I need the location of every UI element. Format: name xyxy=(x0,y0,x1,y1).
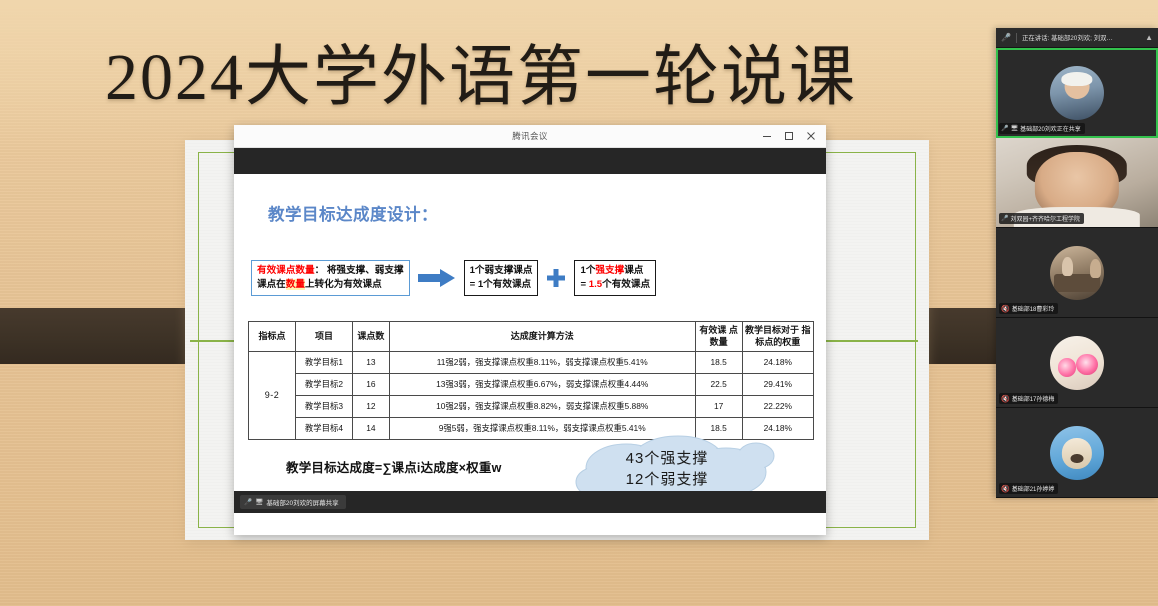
minimize-icon[interactable] xyxy=(756,126,778,147)
microphone-icon: 🎤 xyxy=(1001,33,1011,42)
cell-method: 11强2弱，强支撑课点权重8.11%，弱支撑课点权重5.41% xyxy=(389,352,695,374)
cell-index-point: 9-2 xyxy=(249,352,296,440)
participant-name-badge: 🔇基础部21孙婷婷 xyxy=(999,483,1058,494)
microphone-icon: 🎤 xyxy=(1001,125,1008,132)
definition-box: 有效课点数量： 将强支撑、弱支撑 课点在数量上转化为有效课点 xyxy=(251,260,410,296)
th-points: 课点数 xyxy=(353,322,390,352)
window-controls xyxy=(756,126,826,147)
weak-support-box: 1个弱支撑课点 = 1个有效课点 xyxy=(464,260,539,296)
microphone-icon: 🎤 xyxy=(1001,215,1008,222)
cloud-line-1: 43个强支撑 xyxy=(570,448,764,469)
decorative-ribbon-left xyxy=(0,308,214,364)
avatar xyxy=(1050,336,1104,390)
avatar xyxy=(1050,426,1104,480)
definition-line2-highlight: 数量 xyxy=(286,279,305,290)
video-tile[interactable]: 🎤刘双园+齐齐哈尔工程学院 xyxy=(996,138,1158,228)
definition-line1: 将强支撑、弱支撑 xyxy=(327,265,404,276)
cell-item: 教学目标1 xyxy=(295,352,352,374)
right-arrow-icon xyxy=(418,267,456,289)
cell-item: 教学目标4 xyxy=(295,418,352,440)
cell-effective-points: 22.5 xyxy=(695,374,742,396)
video-tile[interactable]: 🎤🖥基础部20刘欢正在共享 xyxy=(996,48,1158,138)
screen-share-icon: 🖥 xyxy=(1010,125,1018,132)
cell-weight: 24.18% xyxy=(742,352,813,374)
share-status-bar: 🎤 🖥 基础部20刘欢的屏幕共享 xyxy=(234,491,826,513)
share-status-pill: 🎤 🖥 基础部20刘欢的屏幕共享 xyxy=(240,495,346,509)
th-effective-points: 有效课 点数量 xyxy=(695,322,742,352)
conversion-diagram: 有效课点数量： 将强支撑、弱支撑 课点在数量上转化为有效课点 1个弱支撑课点 =… xyxy=(251,260,811,296)
speaking-status-text: 正在讲话: 基础部20刘欢; 刘双… xyxy=(1022,33,1140,42)
weak-line2: = 1个有效课点 xyxy=(470,278,533,292)
table-header-row: 指标点 项目 课点数 达成度计算方法 有效课 点数量 教学目标对于 指标点的权重 xyxy=(249,322,814,352)
cell-weight: 29.41% xyxy=(742,374,813,396)
definition-line2-pre: 课点在 xyxy=(257,279,286,290)
microphone-muted-icon: 🔇 xyxy=(1001,305,1010,313)
th-item: 项目 xyxy=(295,322,352,352)
strong-support-box: 1个强支撑课点 = 1.5个有效课点 xyxy=(574,260,656,296)
green-rule-left xyxy=(190,340,236,342)
maximize-icon[interactable] xyxy=(778,126,800,147)
meeting-toolbar-strip xyxy=(234,148,826,174)
achievement-table: 指标点 项目 课点数 达成度计算方法 有效课 点数量 教学目标对于 指标点的权重… xyxy=(248,321,814,440)
cell-points: 13 xyxy=(353,352,390,374)
cloud-text: 43个强支撑 12个弱支撑 xyxy=(570,448,764,490)
participant-name: 基础部20刘欢正在共享 xyxy=(1020,124,1081,133)
participant-name-badge: 🔇基础部17孙德梅 xyxy=(999,393,1058,404)
strong-line2-post: 个有效课点 xyxy=(602,279,650,290)
screen-share-icon: 🖥 xyxy=(255,498,263,506)
speaking-status-bar: 🎤 正在讲话: 基础部20刘欢; 刘双… ▲ xyxy=(996,28,1158,48)
window-title: 腾讯会议 xyxy=(234,130,826,142)
avatar xyxy=(1050,66,1104,120)
participant-name-badge: 🎤🖥基础部20刘欢正在共享 xyxy=(999,123,1085,134)
cell-weight: 22.22% xyxy=(742,396,813,418)
participant-name: 基础部18曹彩玲 xyxy=(1012,304,1055,313)
participant-name: 基础部17孙德梅 xyxy=(1012,394,1055,403)
green-rule-right xyxy=(826,340,918,342)
strong-line2-highlight: 1.5 xyxy=(589,279,602,290)
cloud-line-2: 12个弱支撑 xyxy=(570,469,764,490)
divider xyxy=(1016,33,1017,43)
video-tile[interactable]: 🔇基础部18曹彩玲 xyxy=(996,228,1158,318)
participant-name: 刘双园+齐齐哈尔工程学院 xyxy=(1010,214,1080,223)
cell-points: 12 xyxy=(353,396,390,418)
strong-line1-highlight: 强支撑 xyxy=(595,265,624,276)
page-title: 2024大学外语第一轮说课 xyxy=(0,42,1158,114)
table-body: 9-2教学目标11311强2弱，强支撑课点权重8.11%，弱支撑课点权重5.41… xyxy=(249,352,814,440)
th-method: 达成度计算方法 xyxy=(389,322,695,352)
definition-term: 有效课点数量 xyxy=(257,265,315,276)
cell-item: 教学目标2 xyxy=(295,374,352,396)
cell-method: 10强2弱，强支撑课点权重8.82%，弱支撑课点权重5.88% xyxy=(389,396,695,418)
achievement-formula: 教学目标达成度=∑课点i达成度×权重w xyxy=(286,457,502,476)
table-row: 教学目标21613强3弱，强支撑课点权重6.67%，弱支撑课点权重4.44%22… xyxy=(249,374,814,396)
cell-points: 16 xyxy=(353,374,390,396)
th-index-point: 指标点 xyxy=(249,322,296,352)
plus-icon xyxy=(546,267,566,289)
cell-method: 13强3弱，强支撑课点权重6.67%，弱支撑课点权重4.44% xyxy=(389,374,695,396)
table-row: 9-2教学目标11311强2弱，强支撑课点权重8.11%，弱支撑课点权重5.41… xyxy=(249,352,814,374)
strong-line2-pre: = xyxy=(580,279,588,290)
slide-heading: 教学目标达成度设计： xyxy=(268,201,438,225)
video-tile[interactable]: 🔇基础部21孙婷婷 xyxy=(996,408,1158,498)
table-row: 教学目标31210强2弱，强支撑课点权重8.82%，弱支撑课点权重5.88%17… xyxy=(249,396,814,418)
strong-line1-pre: 1个 xyxy=(580,265,595,276)
cell-effective-points: 17 xyxy=(695,396,742,418)
participant-name: 基础部21孙婷婷 xyxy=(1012,484,1055,493)
definition-line2-post: 上转化为有效课点 xyxy=(305,279,382,290)
avatar xyxy=(1050,246,1104,300)
window-titlebar: 腾讯会议 xyxy=(234,125,826,148)
cell-effective-points: 18.5 xyxy=(695,352,742,374)
video-tiles-list: 🎤🖥基础部20刘欢正在共享🎤刘双园+齐齐哈尔工程学院🔇基础部18曹彩玲🔇基础部1… xyxy=(996,48,1158,498)
participant-name-badge: 🔇基础部18曹彩玲 xyxy=(999,303,1058,314)
shared-slide-content: 教学目标达成度设计： 有效课点数量： 将强支撑、弱支撑 课点在数量上转化为有效课… xyxy=(234,174,826,513)
strong-line1-post: 课点 xyxy=(624,265,643,276)
microphone-muted-icon: 🔇 xyxy=(1001,395,1010,403)
cell-item: 教学目标3 xyxy=(295,396,352,418)
participant-name-badge: 🎤刘双园+齐齐哈尔工程学院 xyxy=(999,213,1084,224)
close-icon[interactable] xyxy=(800,126,822,147)
video-tile[interactable]: 🔇基础部17孙德梅 xyxy=(996,318,1158,408)
microphone-icon: 🎤 xyxy=(244,498,252,506)
cell-points: 14 xyxy=(353,418,390,440)
microphone-muted-icon: 🔇 xyxy=(1001,485,1010,493)
chevron-up-icon[interactable]: ▲ xyxy=(1145,33,1153,42)
share-status-text: 基础部20刘欢的屏幕共享 xyxy=(266,497,338,507)
tencent-meeting-window[interactable]: 腾讯会议 教学目标达成度设计： 有效课点数量： 将强支撑、弱支撑 课点在数量上转… xyxy=(234,125,826,535)
weak-line1: 1个弱支撑课点 xyxy=(470,264,533,278)
th-weight: 教学目标对于 指标点的权重 xyxy=(742,322,813,352)
definition-colon: ： xyxy=(315,265,325,276)
participant-video-sidebar: 🎤 正在讲话: 基础部20刘欢; 刘双… ▲ 🎤🖥基础部20刘欢正在共享🎤刘双园… xyxy=(996,28,1158,498)
